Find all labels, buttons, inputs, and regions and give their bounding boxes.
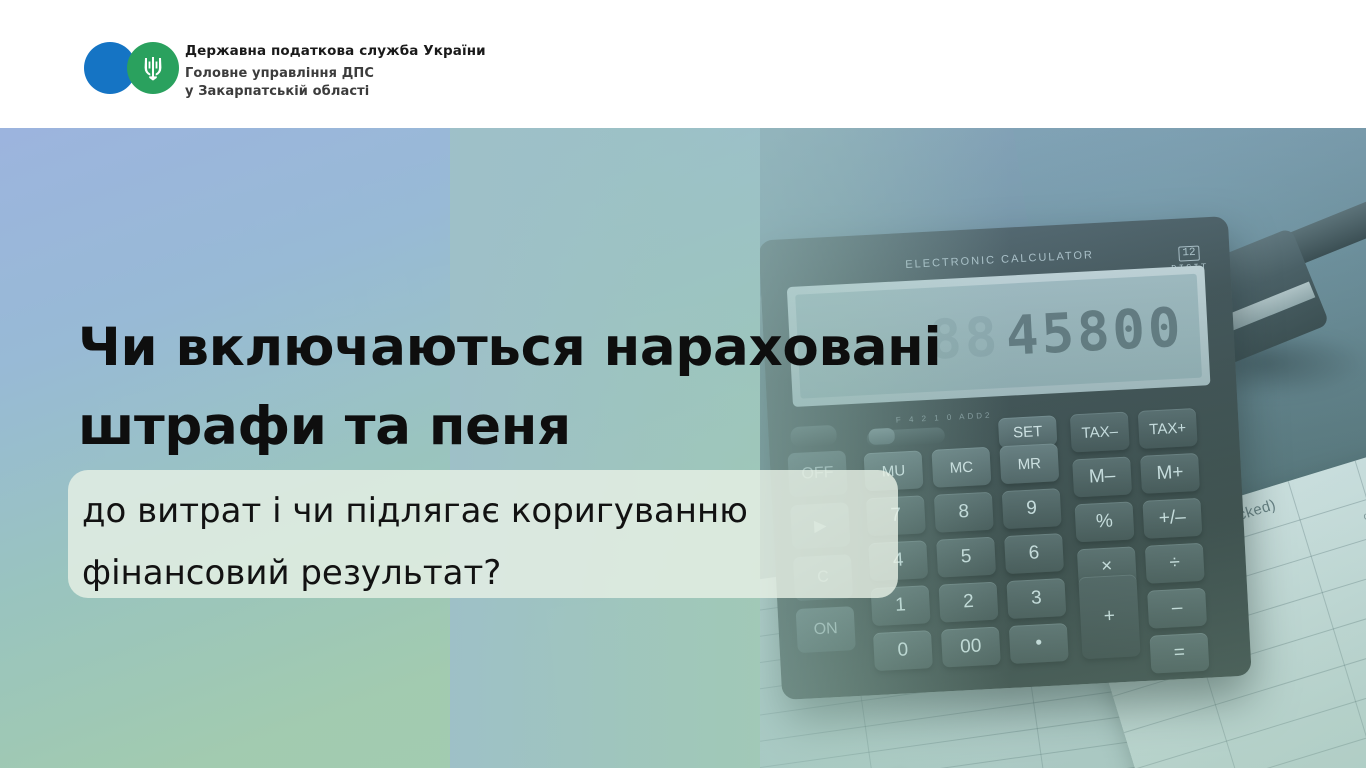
organization-logo[interactable]: Державна податкова служба України Головн… bbox=[84, 42, 486, 100]
page-subtitle: до витрат і чи підлягає коригуванню фіна… bbox=[82, 480, 892, 604]
header-bar: Державна податкова служба України Головн… bbox=[0, 0, 1366, 128]
logo-text-block: Державна податкова служба України Головн… bbox=[185, 42, 486, 100]
org-name-secondary: Головне управління ДПС у Закарпатській о… bbox=[185, 65, 486, 100]
hero-content: Чи включаються нараховані штрафи та пеня… bbox=[0, 128, 1366, 768]
page-title: Чи включаються нараховані штрафи та пеня bbox=[78, 308, 1018, 466]
logo-marks bbox=[84, 42, 179, 94]
org-dept-line-1: Головне управління ДПС bbox=[185, 65, 486, 83]
ukraine-trident-icon bbox=[142, 55, 164, 82]
subtitle-line-2: фінансовий результат? bbox=[82, 542, 892, 604]
poster-stage: ~123456789 QWERTYUIOP ASDFGHJKL ZXCVBNM … bbox=[0, 0, 1366, 768]
title-line-2: штрафи та пеня bbox=[78, 387, 1018, 466]
subtitle-line-1: до витрат і чи підлягає коригуванню bbox=[82, 480, 892, 542]
org-dept-line-2: у Закарпатській області bbox=[185, 83, 486, 101]
org-name-primary: Державна податкова служба України bbox=[185, 43, 486, 60]
title-line-1: Чи включаються нараховані bbox=[78, 308, 1018, 387]
